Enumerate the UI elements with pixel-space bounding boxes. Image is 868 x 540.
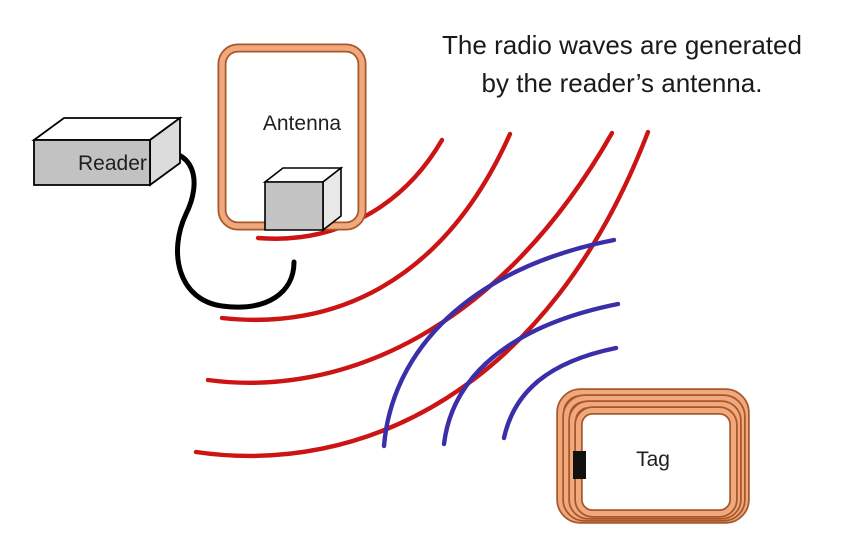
tag-chip bbox=[573, 451, 586, 479]
caption-line-1: The radio waves are generated bbox=[442, 30, 802, 60]
antenna-label: Antenna bbox=[263, 112, 342, 135]
tag-coil: Tag bbox=[561, 393, 746, 520]
rfid-diagram: The radio waves are generated by the rea… bbox=[0, 0, 868, 540]
reader-box: Reader bbox=[34, 118, 180, 185]
reader-label: Reader bbox=[78, 152, 147, 175]
caption-block: The radio waves are generated by the rea… bbox=[442, 30, 802, 98]
connector-front-face bbox=[265, 182, 323, 230]
caption-line-2: by the reader’s antenna. bbox=[482, 68, 763, 98]
diagram-canvas: The radio waves are generated by the rea… bbox=[0, 0, 868, 540]
antenna-connector-box bbox=[265, 168, 341, 230]
tag-label: Tag bbox=[636, 448, 670, 471]
